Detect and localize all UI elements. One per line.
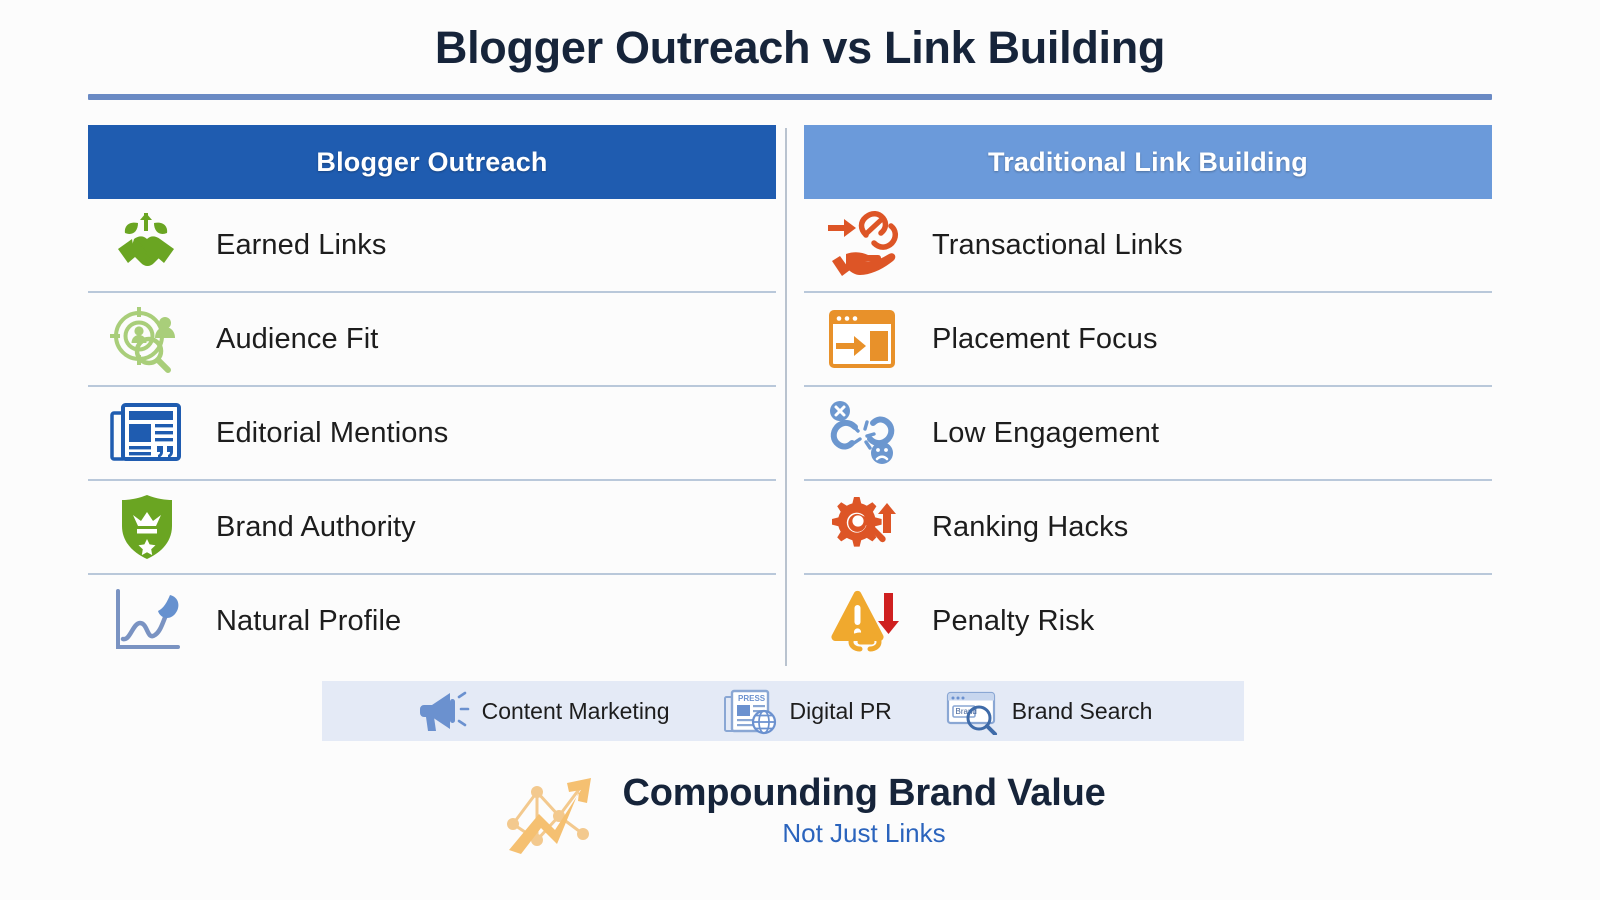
row-label: Placement Focus xyxy=(922,323,1158,356)
row-label: Ranking Hacks xyxy=(922,511,1128,544)
tag-digital-pr[interactable]: PRESS Digital PR xyxy=(722,687,892,735)
table-row[interactable]: Audience Fit xyxy=(88,293,776,387)
shield-crown-star-icon xyxy=(88,481,206,573)
table-row[interactable]: Brand Authority xyxy=(88,481,776,575)
network-growth-arrow-icon xyxy=(494,762,604,858)
footer-text-block: Compounding Brand Value Not Just Links xyxy=(622,773,1105,847)
warning-triangle-down-arrow-chain-icon xyxy=(804,575,922,667)
table-row[interactable]: Earned Links xyxy=(88,199,776,293)
gear-wrench-arrow-icon xyxy=(804,481,922,573)
row-list-right: Transactional Links xyxy=(804,199,1492,667)
row-label: Low Engagement xyxy=(922,417,1159,450)
row-label: Penalty Risk xyxy=(922,605,1094,638)
browser-window-arrow-icon xyxy=(804,293,922,385)
table-row[interactable]: Placement Focus xyxy=(804,293,1492,387)
row-label: Audience Fit xyxy=(206,323,378,356)
supporting-tags-bar: Content Marketing PRESS xyxy=(322,681,1244,741)
table-row[interactable]: Transactional Links xyxy=(804,199,1492,293)
row-label: Natural Profile xyxy=(206,605,401,638)
infographic-canvas: Blogger Outreach vs Link Building Blogge… xyxy=(0,0,1600,900)
target-audience-magnifier-icon xyxy=(88,293,206,385)
row-label: Transactional Links xyxy=(922,229,1183,262)
hand-chain-link-arrow-icon xyxy=(804,199,922,291)
column-vertical-divider xyxy=(785,128,787,666)
footer-subline: Not Just Links xyxy=(782,819,945,848)
row-label: Brand Authority xyxy=(206,511,416,544)
column-traditional-link-building: Traditional Link Building xyxy=(804,125,1492,665)
handshake-sprout-icon xyxy=(88,199,206,291)
column-spacer xyxy=(776,125,804,665)
press-label: PRESS xyxy=(738,694,766,703)
broken-chain-sad-face-icon xyxy=(804,387,922,479)
comparison-columns: Blogger Outreach xyxy=(88,125,1492,665)
column-header-blogger-outreach: Blogger Outreach xyxy=(88,125,776,199)
newspaper-quote-icon xyxy=(88,387,206,479)
table-row[interactable]: Low Engagement xyxy=(804,387,1492,481)
table-row[interactable]: Editorial Mentions xyxy=(88,387,776,481)
tag-label: Brand Search xyxy=(1012,698,1153,725)
page-title: Blogger Outreach vs Link Building xyxy=(0,22,1600,74)
press-newspaper-globe-icon: PRESS xyxy=(722,687,778,735)
tag-brand-search[interactable]: Brand Brand Search xyxy=(944,687,1153,735)
tag-label: Content Marketing xyxy=(482,698,670,725)
tag-label: Digital PR xyxy=(790,698,892,725)
megaphone-icon xyxy=(414,687,470,735)
footer-headline: Compounding Brand Value xyxy=(622,773,1105,815)
row-label: Earned Links xyxy=(206,229,386,262)
table-row[interactable]: Natural Profile xyxy=(88,575,776,667)
row-label: Editorial Mentions xyxy=(206,417,448,450)
growth-chart-leaf-icon xyxy=(88,575,206,667)
footer-callout: Compounding Brand Value Not Just Links xyxy=(0,755,1600,865)
browser-search-icon: Brand xyxy=(944,687,1000,735)
table-row[interactable]: Penalty Risk xyxy=(804,575,1492,667)
row-list-left: Earned Links xyxy=(88,199,776,667)
column-blogger-outreach: Blogger Outreach xyxy=(88,125,776,665)
table-row[interactable]: Ranking Hacks xyxy=(804,481,1492,575)
title-divider xyxy=(88,94,1492,100)
column-header-traditional-link-building: Traditional Link Building xyxy=(804,125,1492,199)
tag-content-marketing[interactable]: Content Marketing xyxy=(414,687,670,735)
